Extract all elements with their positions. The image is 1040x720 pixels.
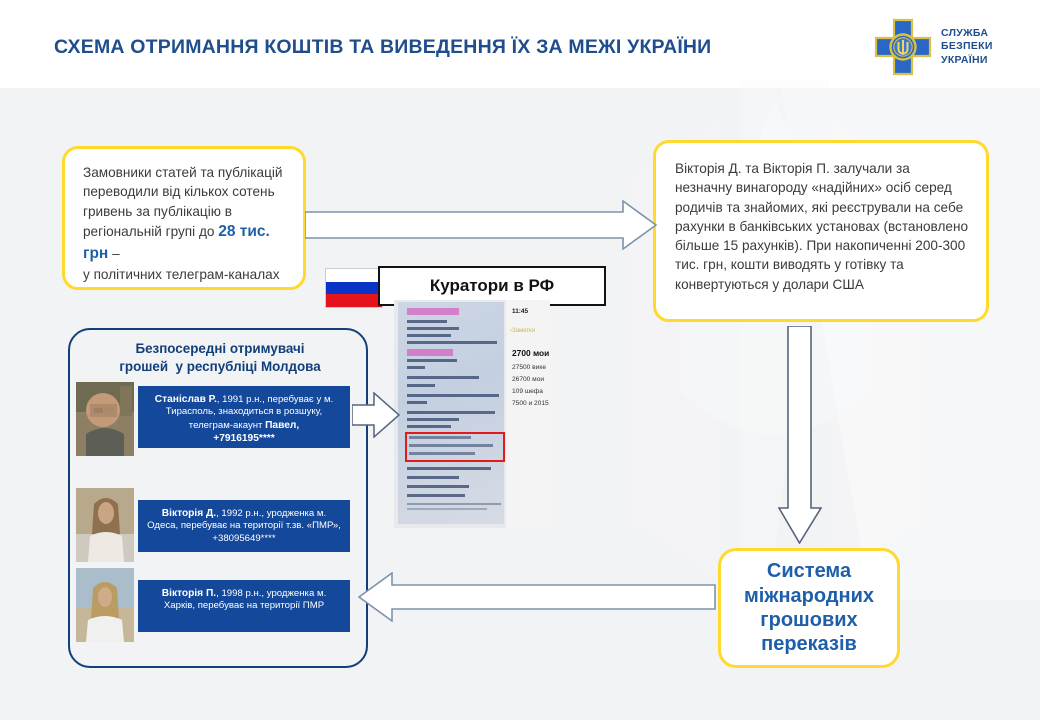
receipt-paper bbox=[398, 302, 504, 524]
logo-line-3: УКРАЇНИ bbox=[941, 54, 993, 67]
person-name-0: Станіслав Р. bbox=[155, 394, 217, 405]
logo-line-2: БЕЗПЕКИ bbox=[941, 40, 993, 53]
callout-recruitment: Вікторія Д. та Вікторія П. залучали за н… bbox=[653, 140, 989, 322]
page-title: СХЕМА ОТРИМАННЯ КОШТІВ ТА ВИВЕДЕННЯ ЇХ З… bbox=[54, 36, 711, 59]
phone-notes-panel: 11:45 ‹Заметки 2700 мои 27500 вике 26700… bbox=[506, 300, 550, 528]
orders-text-after: – у політичних телеграм-каналах bbox=[83, 246, 280, 282]
russia-flag-icon bbox=[325, 268, 383, 308]
avatar-person-2 bbox=[76, 568, 134, 642]
avatar-person-0 bbox=[76, 382, 134, 456]
note-line-1: 27500 вике bbox=[512, 364, 546, 371]
person-card-2: Вікторія П., 1998 р.н., уродженка м. Хар… bbox=[138, 580, 350, 632]
callout-recruitment-text: Вікторія Д. та Вікторія П. залучали за н… bbox=[675, 159, 970, 294]
notes-back-button[interactable]: ‹Заметки bbox=[510, 328, 535, 334]
arrow-system-to-moldova bbox=[358, 572, 716, 622]
panel-moldova-title: Безпосередні отримувачі грошей у республ… bbox=[80, 340, 360, 375]
note-line-3: 109 шефа bbox=[512, 388, 543, 395]
arrow-orders-to-recruit bbox=[305, 200, 657, 250]
notes-back-label: Заметки bbox=[512, 328, 535, 334]
list-item-person-1: Вікторія Д., 1992 р.н., уродженка м. Оде… bbox=[76, 488, 350, 562]
receipt-highlight-box bbox=[405, 432, 505, 462]
sbu-logo: СЛУЖБА БЕЗПЕКИ УКРАЇНИ bbox=[872, 14, 1032, 80]
callout-transfer-system: Система міжнародних грошових переказів bbox=[718, 548, 900, 668]
person-card-0: Станіслав Р., 1991 р.н., перебуває у м. … bbox=[138, 386, 350, 448]
panel-moldova-recipients: Безпосередні отримувачі грошей у республ… bbox=[68, 328, 368, 668]
sbu-logo-text: СЛУЖБА БЕЗПЕКИ УКРАЇНИ bbox=[941, 27, 993, 67]
infographic-root: СХЕМА ОТРИМАННЯ КОШТІВ ТА ВИВЕДЕННЯ ЇХ З… bbox=[0, 0, 1040, 720]
note-line-2: 26700 мои bbox=[512, 376, 544, 383]
system-label: Система міжнародних грошових переказів bbox=[744, 559, 874, 657]
logo-line-1: СЛУЖБА bbox=[941, 27, 993, 40]
sbu-emblem-icon bbox=[872, 16, 934, 78]
curators-label: Куратори в РФ bbox=[430, 276, 554, 296]
money-transfer-receipt-photo: 11:45 ‹Заметки 2700 мои 27500 вике 26700… bbox=[394, 300, 550, 528]
person-card-1: Вікторія Д., 1992 р.н., уродженка м. Оде… bbox=[138, 500, 350, 552]
list-item-person-0: Станіслав Р., 1991 р.н., перебуває у м. … bbox=[76, 382, 350, 456]
callout-orders: Замовники статей та публікацій переводил… bbox=[62, 146, 306, 290]
arrow-recruit-to-system bbox=[778, 326, 822, 544]
status-bar-time: 11:45 bbox=[512, 308, 528, 315]
note-line-4: 7500 и 2015 общие bbox=[512, 400, 550, 407]
avatar-person-1 bbox=[76, 488, 134, 562]
note-line-0: 2700 мои bbox=[512, 348, 549, 358]
person-name-2: Вікторія П. bbox=[162, 588, 216, 599]
callout-orders-text: Замовники статей та публікацій переводил… bbox=[83, 163, 289, 284]
list-item-person-2: Вікторія П., 1998 р.н., уродженка м. Хар… bbox=[76, 568, 350, 642]
person-name-1: Вікторія Д. bbox=[162, 508, 216, 519]
arrow-moldova-to-receipt bbox=[352, 392, 400, 438]
